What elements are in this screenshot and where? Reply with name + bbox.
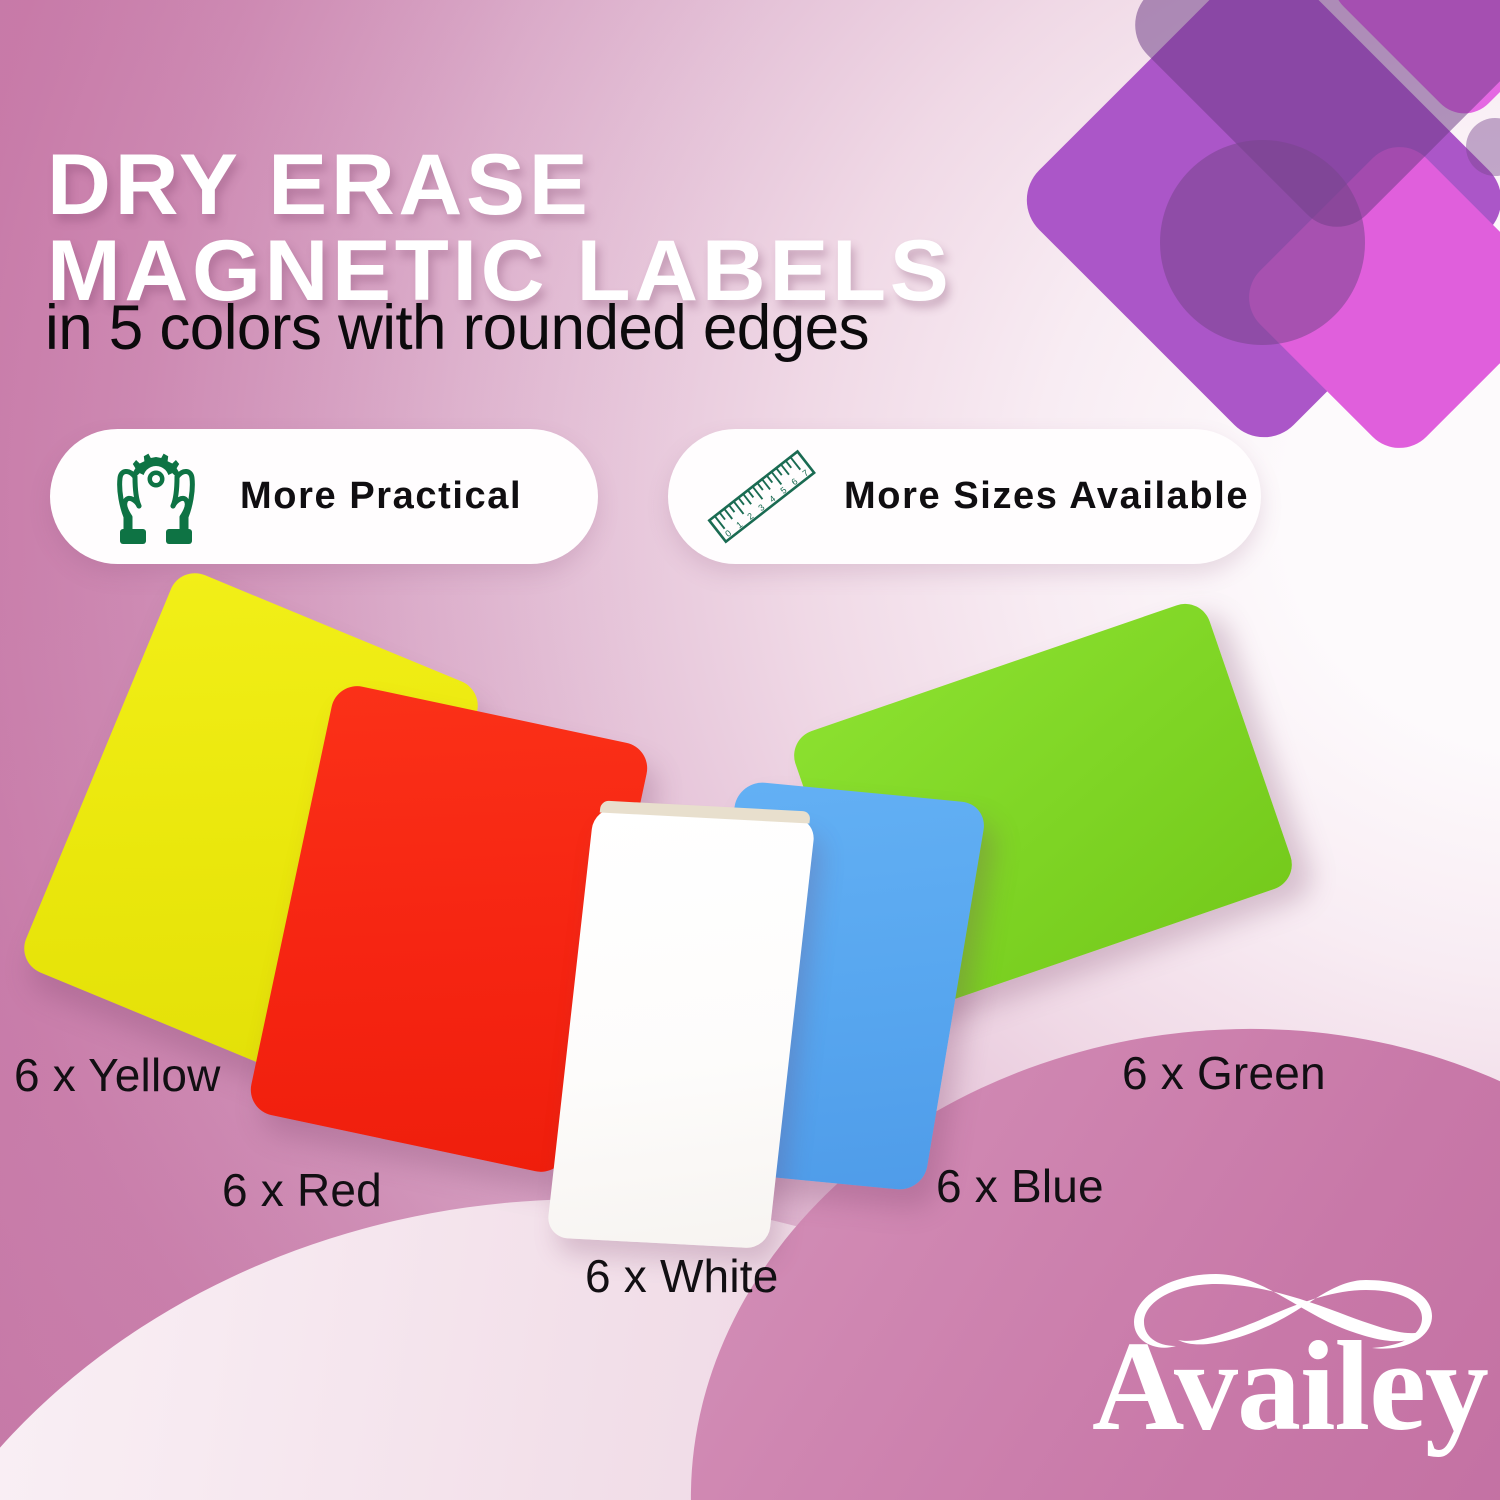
page-subtitle: in 5 colors with rounded edges xyxy=(45,292,869,364)
card-label-red: 6 x Red xyxy=(222,1163,382,1217)
feature-badge-label: More Practical xyxy=(240,475,522,518)
card-label-blue: 6 x Blue xyxy=(936,1159,1104,1213)
product-marketing-image: DRY ERASE MAGNETIC LABELS in 5 colors wi… xyxy=(0,0,1500,1500)
circle-muted-large-icon xyxy=(1160,140,1365,345)
corner-decoration xyxy=(1032,0,1500,470)
brand-logo: Availey xyxy=(1068,1268,1468,1478)
feature-badge-label: More Sizes Available xyxy=(844,475,1249,518)
card-label-yellow: 6 x Yellow xyxy=(14,1048,221,1102)
headline-line-1: DRY ERASE xyxy=(47,137,591,233)
feature-badge-more-practical[interactable]: More Practical xyxy=(50,429,598,564)
card-label-white: 6 x White xyxy=(585,1249,779,1303)
feature-badge-more-sizes[interactable]: 0 1 2 3 4 5 6 7 More Sizes Available xyxy=(668,429,1261,564)
hands-holding-gear-icon xyxy=(102,443,210,551)
card-label-green: 6 x Green xyxy=(1122,1046,1326,1100)
ruler-icon: 0 1 2 3 4 5 6 7 xyxy=(702,443,822,551)
brand-name: Availey xyxy=(1092,1322,1488,1450)
